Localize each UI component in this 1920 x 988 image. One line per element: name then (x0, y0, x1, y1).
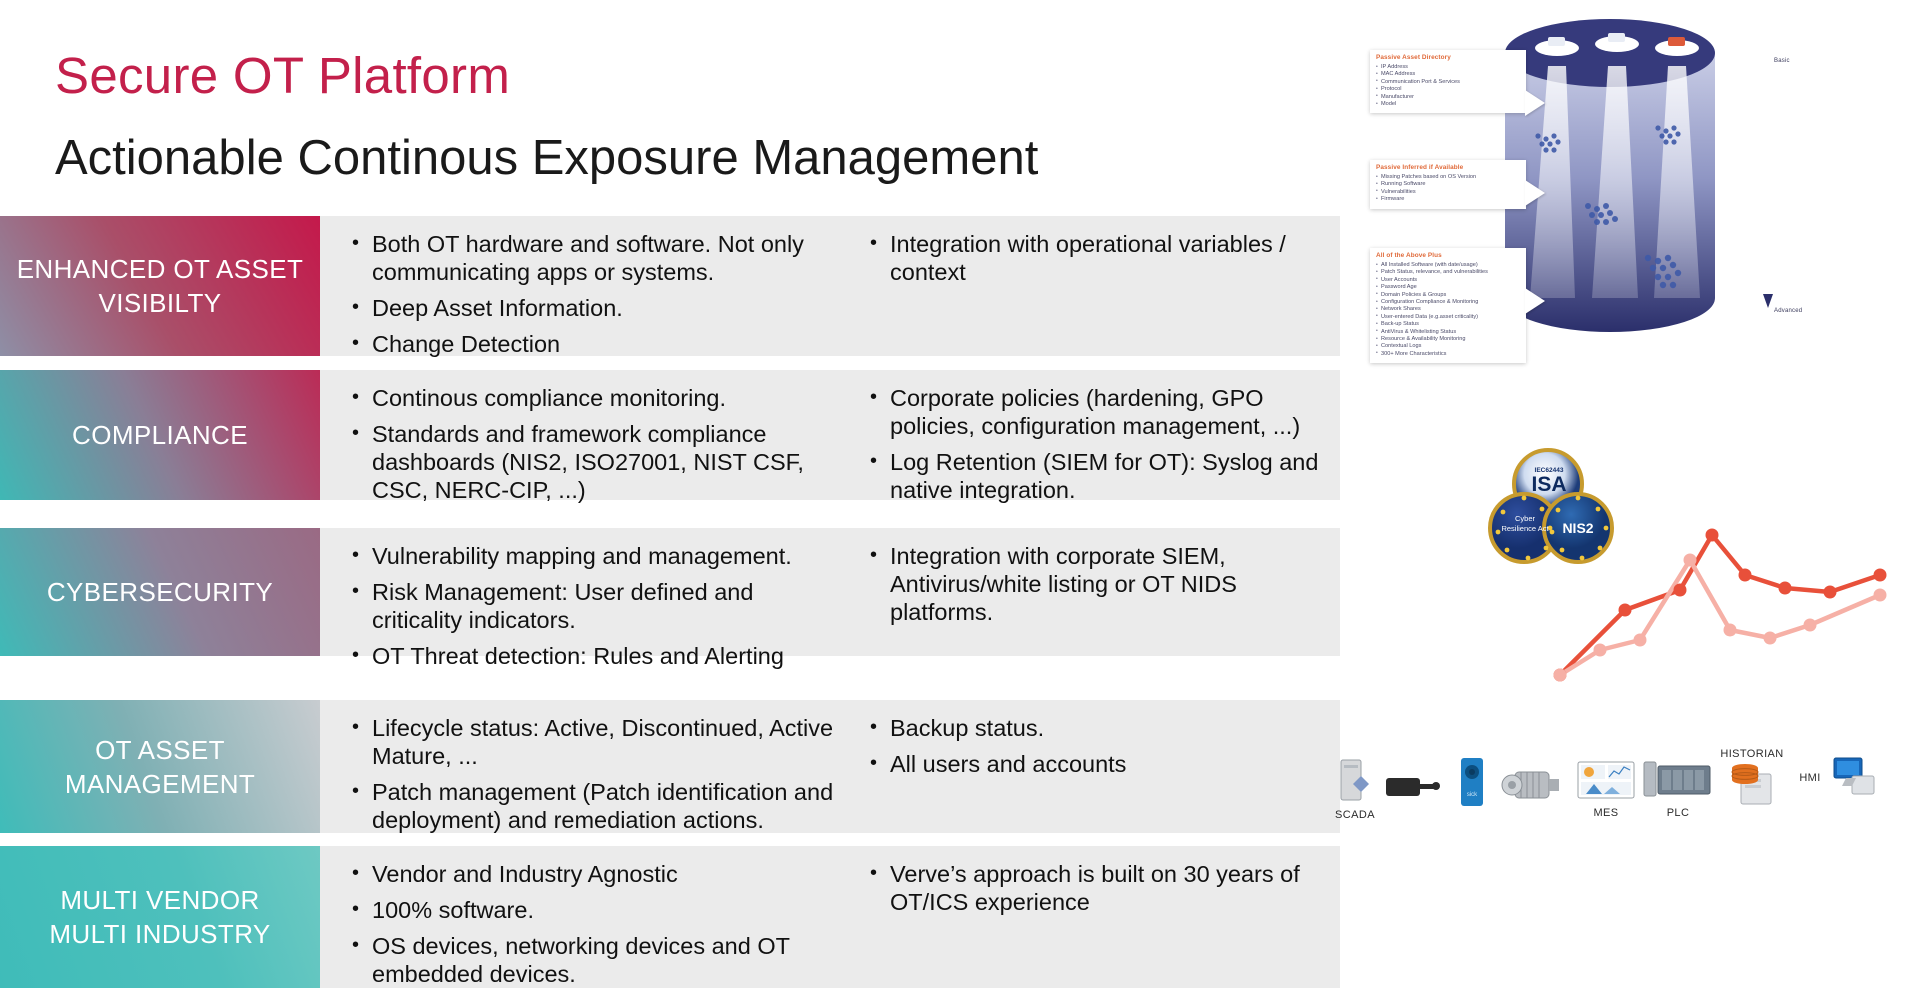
device-icon-strip: SCADA sick (1320, 750, 1920, 860)
list-item: Patch management (Patch identification a… (350, 778, 838, 834)
list-item: Risk Management: User defined and critic… (350, 578, 838, 634)
monitor-icon (1832, 756, 1878, 798)
asset-visibility-diagram: Passive Asset Directory IP Address MAC A… (1370, 8, 1920, 428)
list-item: Network Shares (1376, 306, 1520, 313)
row-label-line2: MANAGEMENT (65, 769, 255, 799)
info-box-heading: Passive Asset Directory (1376, 54, 1520, 62)
row-compliance[interactable]: COMPLIANCE Continous compliance monitori… (0, 370, 1340, 500)
list-item: Firmware (1376, 196, 1520, 203)
list-item: Vulnerability mapping and management. (350, 542, 838, 570)
isa-badge-label: ISA (1524, 473, 1574, 497)
list-item: 300+ More Characteristics (1376, 351, 1520, 358)
device-mes: MES (1570, 760, 1642, 819)
row-ot-asset-management[interactable]: OT ASSET MANAGEMENT Lifecycle status: Ac… (0, 700, 1340, 833)
row-label-line2: MULTI INDUSTRY (49, 919, 270, 949)
info-box-passive-inferred-if-available: Passive Inferred if Available Missing Pa… (1370, 160, 1526, 209)
info-box-passive-asset-directory: Passive Asset Directory IP Address MAC A… (1370, 50, 1526, 113)
row-enhanced-ot-asset-visibility[interactable]: ENHANCED OT ASSET VISIBILTY Both OT hard… (0, 216, 1340, 356)
arrow-right-icon (1525, 180, 1545, 206)
list-item: Lifecycle status: Active, Discontinued, … (350, 714, 838, 770)
list-item: Continous compliance monitoring. (350, 384, 838, 412)
row-label-line1: MULTI VENDOR (60, 885, 259, 915)
list-item: Verve’s approach is built on 30 years of… (868, 860, 1320, 916)
camera-icon (1384, 772, 1442, 802)
slide-canvas: Secure OT Platform Actionable Continous … (0, 0, 1920, 988)
sensor-icon: sick (1459, 756, 1485, 808)
list-item: Integration with operational variables /… (868, 230, 1320, 286)
info-box-heading: All of the Above Plus (1376, 252, 1520, 260)
list-item: Vulnerabilities (1376, 189, 1520, 196)
row-label-line1: OT ASSET (95, 735, 225, 765)
dashboard-screen-icon (1576, 760, 1636, 802)
device-historian: HISTORIAN (1712, 748, 1792, 811)
list-item: Log Retention (SIEM for OT): Syslog and … (868, 448, 1320, 504)
trend-chart (1540, 520, 1920, 700)
device-scada: SCADA (1322, 758, 1388, 821)
list-item: Vendor and Industry Agnostic (350, 860, 838, 888)
row-label-ot-asset-management: OT ASSET MANAGEMENT (0, 700, 320, 833)
database-server-icon (1725, 762, 1779, 806)
list-item: Password Age (1376, 284, 1520, 291)
row-body: Continous compliance monitoring. Standar… (320, 370, 1340, 500)
list-item: Patch Status, relevance, and vulnerabili… (1376, 269, 1520, 276)
motor-icon (1499, 766, 1563, 806)
row-label-line1: COMPLIANCE (72, 418, 248, 452)
axis-label-advanced: Advanced (1774, 308, 1802, 314)
row-body: Vendor and Industry Agnostic 100% softwa… (320, 846, 1340, 988)
list-item: IP Address (1376, 64, 1520, 71)
list-item: Change Detection (350, 330, 838, 358)
row-label-line1: ENHANCED OT ASSET (17, 254, 304, 284)
list-item: Deep Asset Information. (350, 294, 838, 322)
device-motor (1496, 766, 1566, 811)
list-item: Communication Port & Services (1376, 79, 1520, 86)
device-camera (1382, 772, 1444, 807)
list-item: User-entered Data (e.g.asset criticality… (1376, 314, 1520, 321)
trend-chart-svg (1540, 520, 1920, 700)
list-item: Running Software (1376, 181, 1520, 188)
list-item: Protocol (1376, 86, 1520, 93)
list-item: Contextual Logs (1376, 343, 1520, 350)
row-body: Lifecycle status: Active, Discontinued, … (320, 700, 1340, 833)
row-label-multi-vendor-multi-industry: MULTI VENDOR MULTI INDUSTRY (0, 846, 320, 988)
list-item: MAC Address (1376, 71, 1520, 78)
arrow-right-icon (1525, 288, 1545, 314)
plc-icon (1642, 758, 1714, 802)
device-label: PLC (1638, 807, 1718, 819)
list-item: OT Threat detection: Rules and Alerting (350, 642, 838, 670)
list-item: 100% software. (350, 896, 838, 924)
axis-label-basic: Basic (1774, 58, 1790, 64)
bullet-column-left: Vulnerability mapping and management. Ri… (320, 542, 850, 642)
page-subtitle: Actionable Continous Exposure Management (55, 130, 1038, 186)
list-item: Back-up Status (1376, 321, 1520, 328)
arrow-right-icon (1525, 90, 1545, 116)
device-hmi-icon-wrap (1830, 756, 1880, 803)
device-hmi: HMI (1788, 772, 1832, 784)
list-item: Corporate policies (hardening, GPO polic… (868, 384, 1320, 440)
bullet-column-right: Corporate policies (hardening, GPO polic… (850, 384, 1340, 486)
row-label-line2: VISIBILTY (98, 288, 221, 318)
list-item: OS devices, networking devices and OT em… (350, 932, 838, 988)
list-item: Resource & Availability Monitoring (1376, 336, 1520, 343)
row-multi-vendor-multi-industry[interactable]: MULTI VENDOR MULTI INDUSTRY Vendor and I… (0, 846, 1340, 988)
list-item: All Installed Software (with date/usage) (1376, 262, 1520, 269)
device-sensor: sick (1452, 756, 1492, 813)
bullet-column-right: Backup status. All users and accounts (850, 714, 1340, 819)
info-box-all-of-the-above-plus: All of the Above Plus All Installed Soft… (1370, 248, 1526, 363)
row-body: Both OT hardware and software. Not only … (320, 216, 1340, 356)
bullet-column-right: Integration with operational variables /… (850, 230, 1340, 342)
device-label: MES (1570, 807, 1642, 819)
list-item: Both OT hardware and software. Not only … (350, 230, 838, 286)
list-item: Standards and framework compliance dashb… (350, 420, 838, 504)
list-item: Domain Policies & Groups (1376, 292, 1520, 299)
row-body: Vulnerability mapping and management. Ri… (320, 528, 1340, 656)
list-item: AntiVirus & Whitelisting Status (1376, 329, 1520, 336)
list-item: Missing Patches based on OS Version (1376, 174, 1520, 181)
device-label: SCADA (1322, 809, 1388, 821)
svg-text:sick: sick (1467, 792, 1478, 798)
bullet-column-right: Integration with corporate SIEM, Antivir… (850, 542, 1340, 642)
bullet-column-left: Lifecycle status: Active, Discontinued, … (320, 714, 850, 819)
list-item: Integration with corporate SIEM, Antivir… (868, 542, 1320, 626)
list-item: Manufacturer (1376, 94, 1520, 101)
device-label: HMI (1788, 772, 1832, 784)
server-icon (1335, 758, 1375, 804)
list-item: User Accounts (1376, 277, 1520, 284)
row-label-line1: CYBERSECURITY (47, 575, 273, 609)
list-item: All users and accounts (868, 750, 1320, 778)
row-label-cybersecurity: CYBERSECURITY (0, 528, 320, 656)
list-item: Configuration Compliance & Monitoring (1376, 299, 1520, 306)
bullet-column-right: Verve’s approach is built on 30 years of… (850, 860, 1340, 974)
list-item: Backup status. (868, 714, 1320, 742)
page-title: Secure OT Platform (55, 48, 510, 104)
device-label: HISTORIAN (1712, 748, 1792, 760)
row-label-enhanced-ot-asset-visibility: ENHANCED OT ASSET VISIBILTY (0, 216, 320, 356)
row-cybersecurity[interactable]: CYBERSECURITY Vulnerability mapping and … (0, 528, 1340, 656)
list-item: Model (1376, 101, 1520, 108)
bullet-column-left: Vendor and Industry Agnostic 100% softwa… (320, 860, 850, 974)
info-box-heading: Passive Inferred if Available (1376, 164, 1520, 172)
row-label-compliance: COMPLIANCE (0, 370, 320, 500)
device-plc: PLC (1638, 758, 1718, 819)
bullet-column-left: Both OT hardware and software. Not only … (320, 230, 850, 342)
bullet-column-left: Continous compliance monitoring. Standar… (320, 384, 850, 486)
